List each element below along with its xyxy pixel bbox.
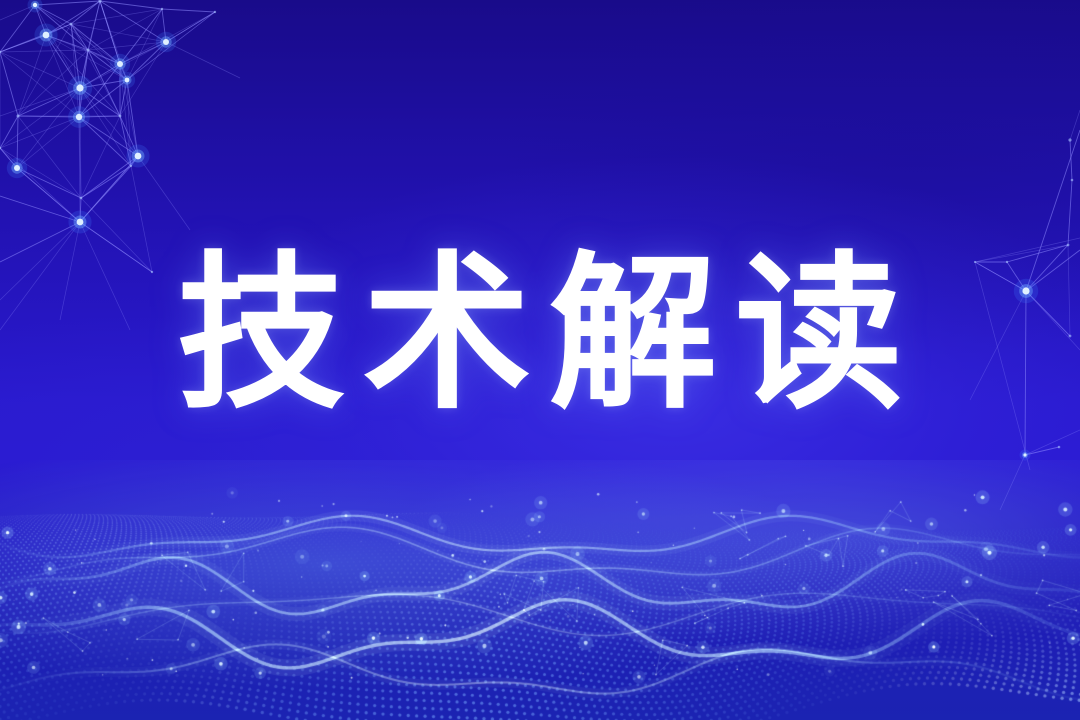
wave-terrain xyxy=(0,460,1080,720)
page-title: 技术解读 xyxy=(0,247,1080,422)
poster-canvas: 技术解读 xyxy=(0,0,1080,720)
wave-haze xyxy=(0,460,1080,720)
